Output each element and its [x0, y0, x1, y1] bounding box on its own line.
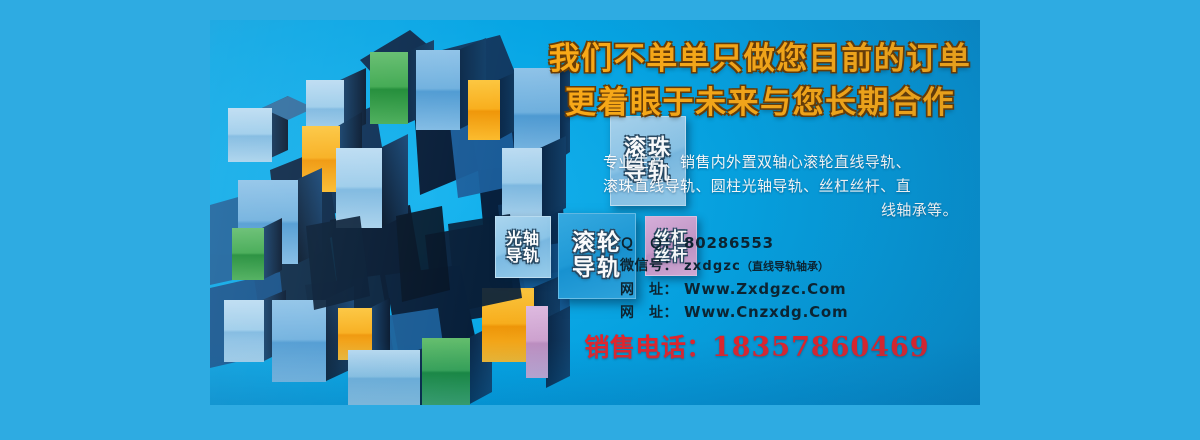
description-line-1: 专业生产、销售内外置双轴心滚轮直线导轨、 [552, 150, 962, 174]
banner-panel: 滚珠 导轨 光轴 导轨 滚轮 导轨 丝杠 丝杆 我们不单单只做您目前的订单 更着… [210, 20, 980, 405]
description-text: 专业生产、销售内外置双轴心滚轮直线导轨、 滚珠直线导轨、圆柱光轴导轨、丝杠丝杆、… [552, 150, 962, 222]
sales-phone-label: 销售电话： [584, 333, 712, 362]
contact-row-qq: Ｑ Ｑ：80286553 [620, 232, 980, 255]
contact-note-wechat: （直线导轨轴承） [741, 260, 829, 273]
product-label-line2: 导轨 [506, 247, 540, 264]
headline-line-2: 更着眼于未来与您长期合作 [540, 81, 980, 125]
description-line-3: 线轴承等。 [552, 198, 962, 222]
cube-front-beams [306, 206, 522, 312]
contact-label-wechat: 微信号： [620, 255, 684, 277]
cube-paleblue-center [336, 134, 408, 228]
description-line-2: 滚珠直线导轨、圆柱光轴导轨、丝杠丝杆、直 [552, 174, 962, 198]
contact-row-wechat: 微信号：zxdgzc（直线导轨轴承） [620, 255, 980, 278]
contact-label-website-1: 网 址： [620, 279, 684, 301]
contact-label-qq: Ｑ Ｑ： [620, 233, 684, 255]
sales-phone-number[interactable]: 18357860469 [712, 332, 930, 363]
contact-value-website-2[interactable]: Www.Cnzxdg.Com [684, 303, 848, 321]
sales-phone[interactable]: 销售电话：18357860469 [542, 332, 972, 364]
cube-cluster-artwork [210, 20, 570, 405]
cube-orange-upperright [468, 70, 520, 140]
headline-line-1: 我们不单单只做您目前的订单 [540, 37, 980, 81]
promo-banner: 滚珠 导轨 光轴 导轨 滚轮 导轨 丝杠 丝杆 我们不单单只做您目前的订单 更着… [0, 0, 1200, 440]
contact-row-website-1: 网 址：Www.Zxdgzc.Com [620, 278, 980, 301]
contact-value-website-1[interactable]: Www.Zxdgzc.Com [684, 280, 847, 298]
cube-lightblue-topleft [228, 96, 314, 162]
contact-label-website-2: 网 址： [620, 302, 684, 324]
banner-copy-column: 我们不单单只做您目前的订单 更着眼于未来与您长期合作 专业生产、销售内外置双轴心… [540, 20, 980, 405]
product-label-line1: 光轴 [506, 230, 540, 247]
headline: 我们不单单只做您目前的订单 更着眼于未来与您长期合作 [540, 37, 980, 125]
contact-row-website-2: 网 址：Www.Cnzxdg.Com [620, 301, 980, 324]
contact-block: Ｑ Ｑ：80286553 微信号：zxdgzc（直线导轨轴承） 网 址：Www.… [620, 232, 980, 324]
contact-value-wechat[interactable]: zxdgzc [684, 259, 741, 274]
contact-value-qq[interactable]: 80286553 [684, 234, 774, 252]
